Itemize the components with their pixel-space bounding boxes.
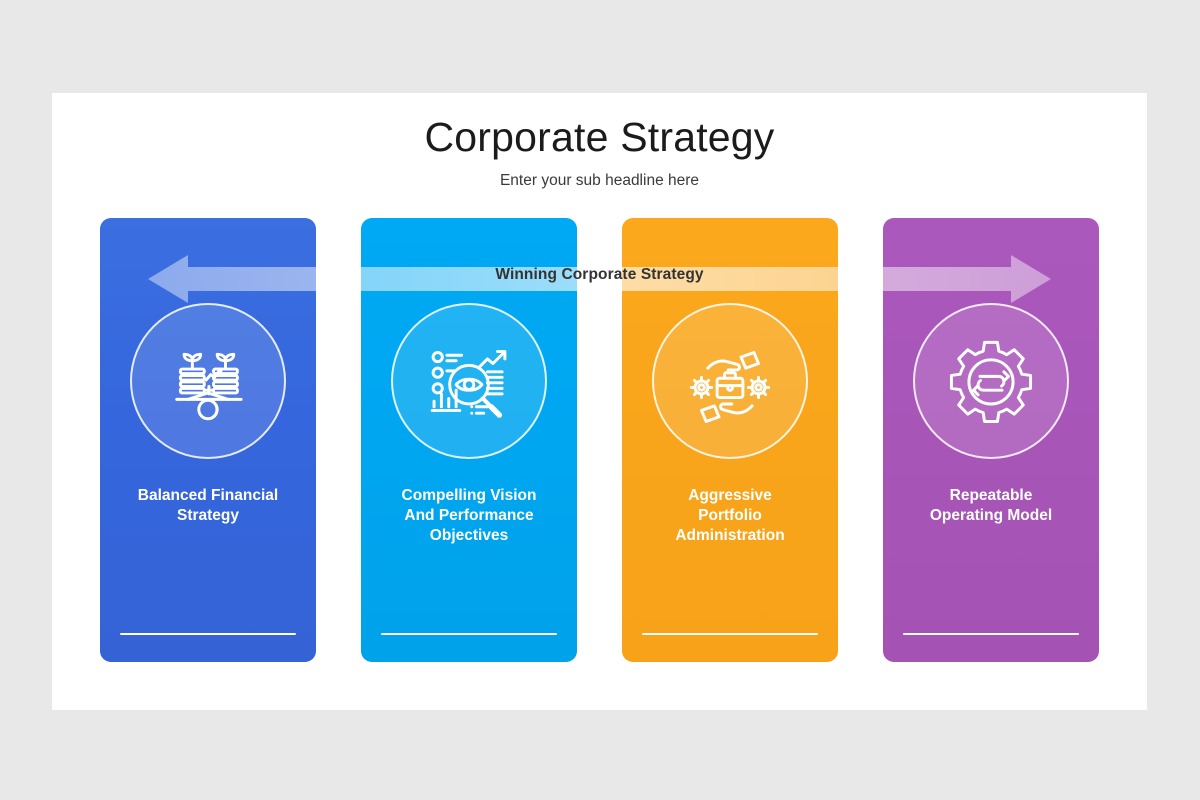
card-underline [120, 633, 296, 635]
slide-panel: Corporate Strategy Enter your sub headli… [52, 93, 1147, 710]
hands-briefcase-gears-icon [684, 335, 776, 427]
card-label: Repeatable Operating Model [895, 486, 1087, 526]
card-underline [642, 633, 818, 635]
card-underline [903, 633, 1079, 635]
gear-repeat-loop-icon [945, 335, 1037, 427]
card-label: Balanced Financial Strategy [112, 486, 304, 526]
cards-row: Balanced Financial Strategy [100, 218, 1146, 662]
card-underline [381, 633, 557, 635]
icon-circle [913, 303, 1069, 459]
page-title: Corporate Strategy [52, 114, 1147, 161]
icon-circle [652, 303, 808, 459]
strategy-card-compelling-vision-and-performance-objectives[interactable]: Compelling Vision And Performance Object… [361, 218, 577, 662]
icon-circle [130, 303, 286, 459]
balance-scale-coins-plant-icon [162, 335, 254, 427]
strategy-card-aggressive-portfolio-administration[interactable]: Aggressive Portfolio Administration [622, 218, 838, 662]
icon-circle [391, 303, 547, 459]
magnifier-eye-analytics-icon [423, 335, 515, 427]
card-label: Compelling Vision And Performance Object… [373, 486, 565, 546]
strategy-card-balanced-financial-strategy[interactable]: Balanced Financial Strategy [100, 218, 316, 662]
card-label: Aggressive Portfolio Administration [634, 486, 826, 546]
page-subtitle: Enter your sub headline here [52, 172, 1147, 190]
strategy-card-repeatable-operating-model[interactable]: Repeatable Operating Model [883, 218, 1099, 662]
